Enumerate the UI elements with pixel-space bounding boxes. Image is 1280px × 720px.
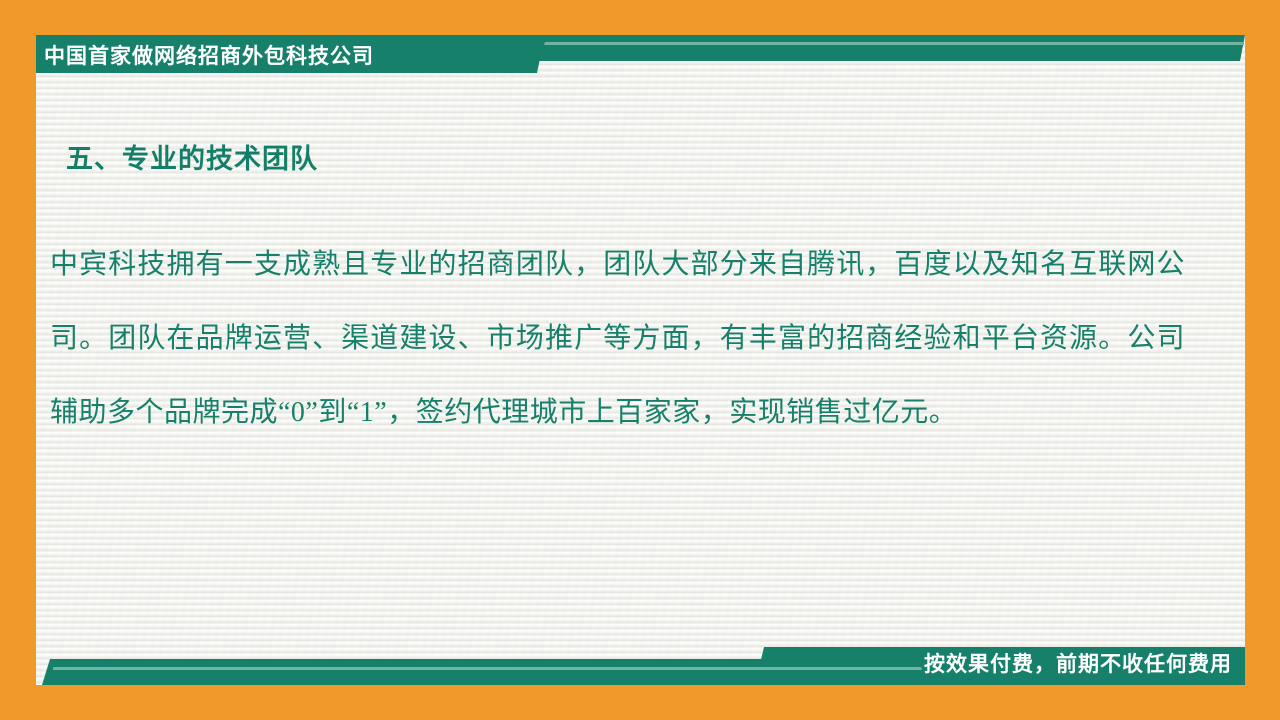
footer-tagline: 按效果付费，前期不收任何费用 — [924, 645, 1232, 681]
section-heading: 五、专业的技术团队 — [66, 137, 318, 176]
slide-canvas: 中国首家做网络招商外包科技公司 五、专业的技术团队 中宾科技拥有一支成熟且专业的… — [0, 0, 1280, 720]
body-copy: 中宾科技拥有一支成熟且专业的招商团队，团队大部分来自腾讯，百度以及知名互联网公司… — [50, 228, 1185, 450]
body-paragraph: 中宾科技拥有一支成熟且专业的招商团队，团队大部分来自腾讯，百度以及知名互联网公司… — [50, 228, 1185, 450]
header-title: 中国首家做网络招商外包科技公司 — [44, 38, 374, 72]
